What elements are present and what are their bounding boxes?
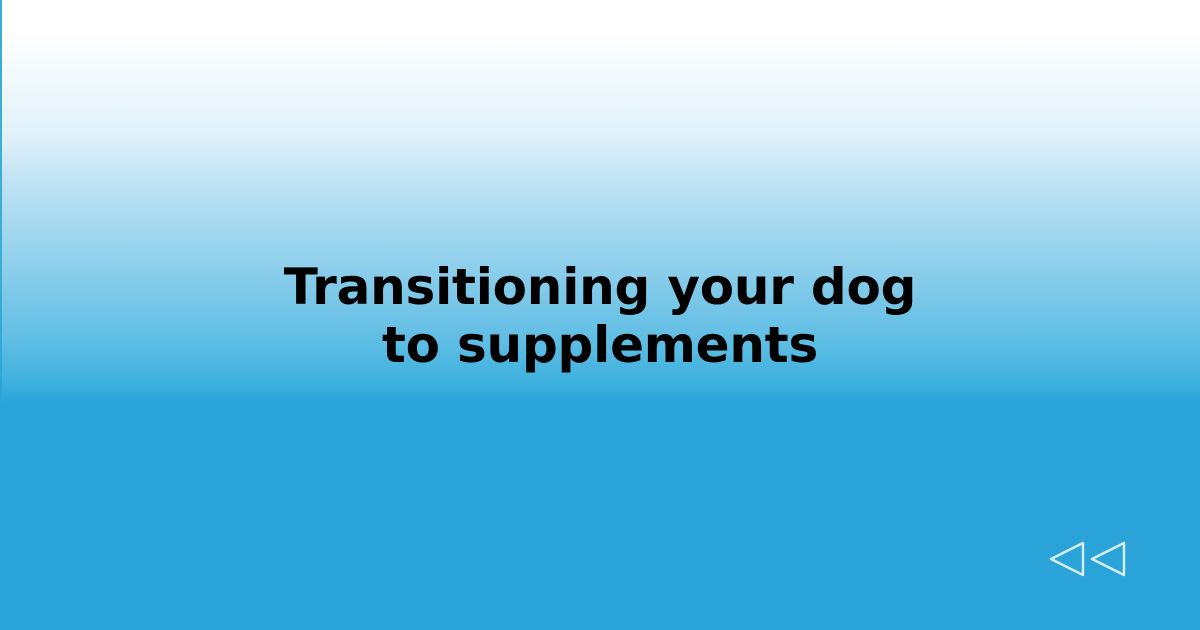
rewind-triangle-right-icon	[1092, 543, 1124, 575]
page-title-line-2: to supplements	[40, 316, 1160, 374]
rewind-icon[interactable]	[1045, 540, 1131, 578]
rewind-triangle-left-icon	[1051, 543, 1083, 575]
page-title: Transitioning your dog to supplements	[0, 258, 1200, 374]
banner-card: Transitioning your dog to supplements	[0, 0, 1200, 630]
page-title-line-1: Transitioning your dog	[40, 258, 1160, 316]
